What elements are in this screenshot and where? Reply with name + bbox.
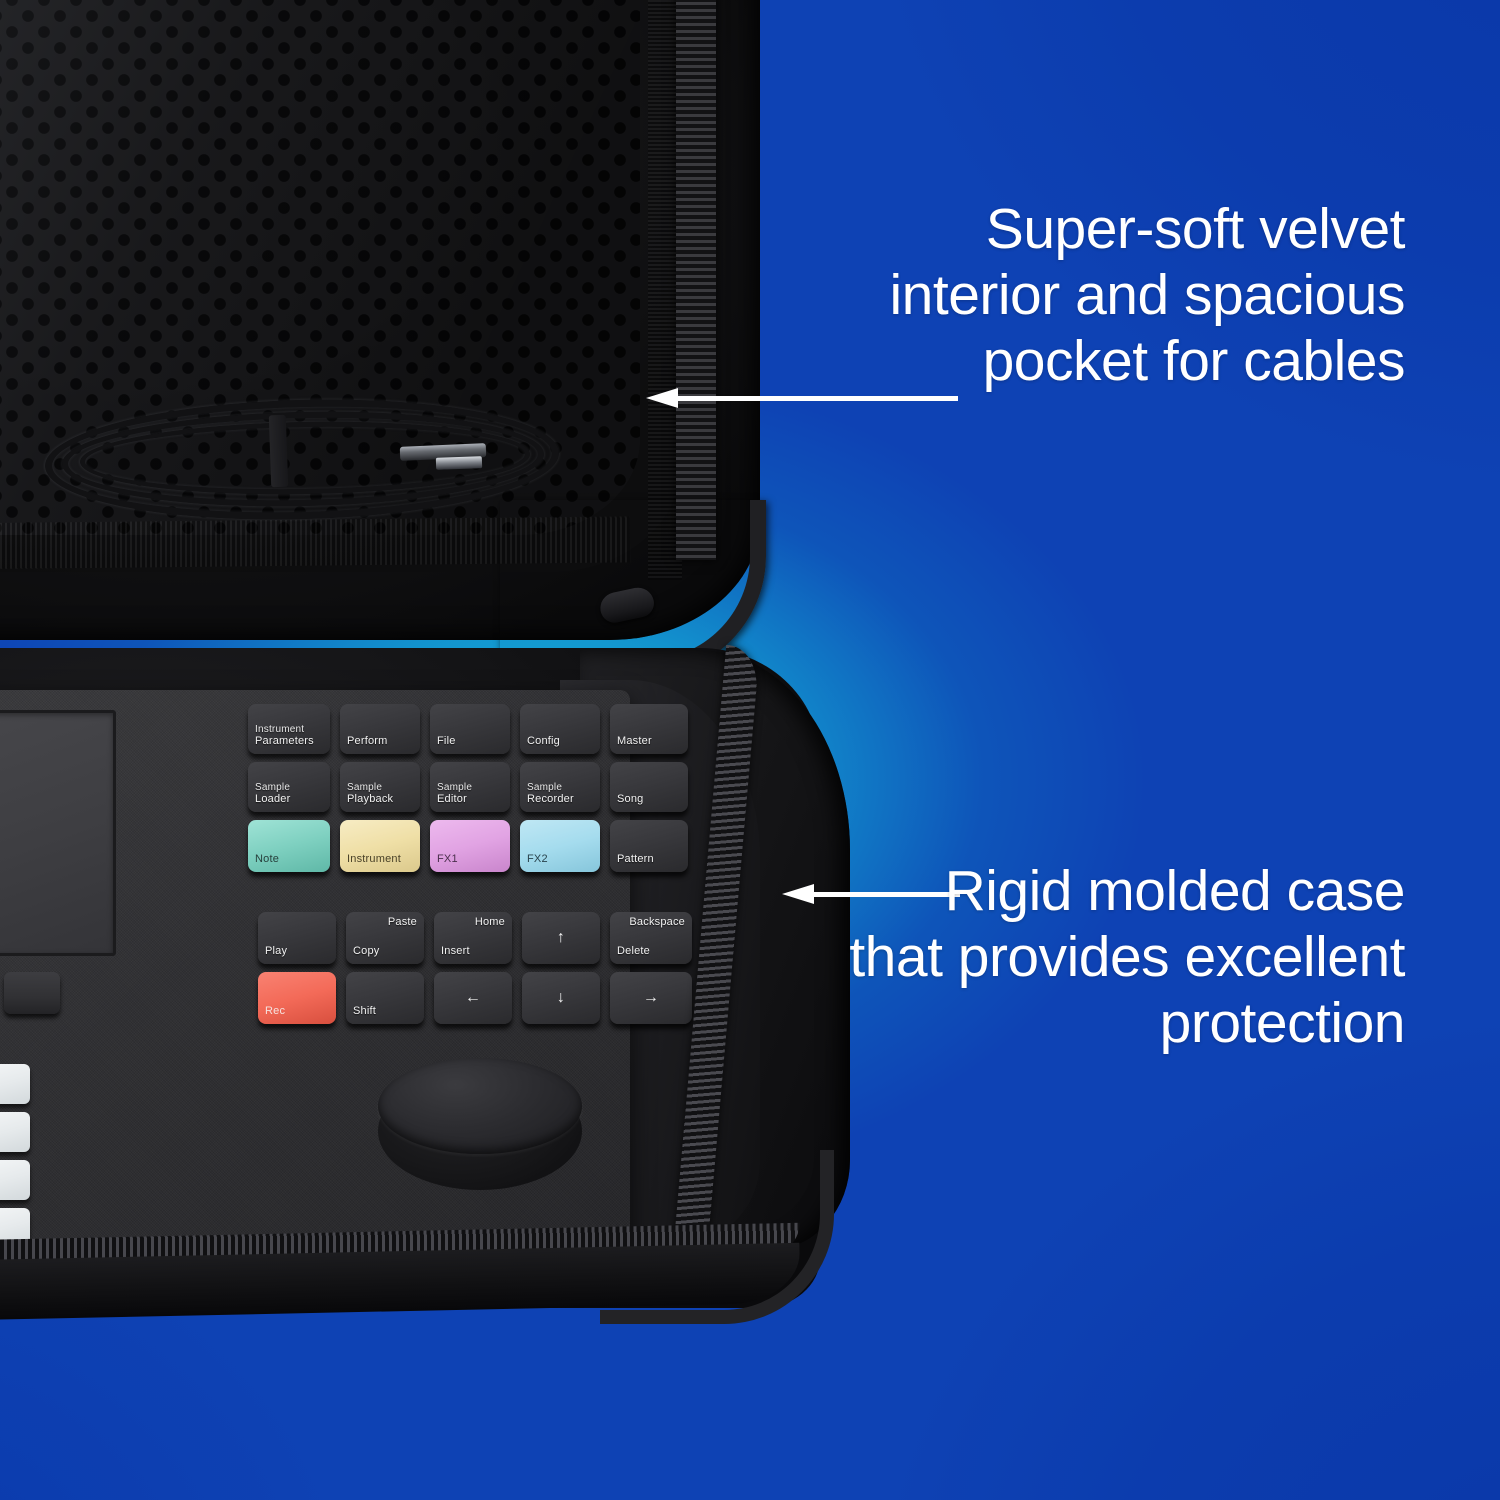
arrow-right-icon: → (610, 972, 692, 1024)
key-label-bottom: Copy (353, 946, 379, 958)
lid-zipper-teeth (676, 0, 716, 560)
key-label: Config (527, 736, 596, 748)
key-sample-editor[interactable]: SampleEditor (430, 762, 510, 812)
key-label: Play (265, 946, 332, 958)
arrow-left-icon: ← (434, 972, 512, 1024)
key-arrow-up[interactable]: ↑ (522, 912, 600, 964)
pad-fx2[interactable]: FX2 (520, 820, 600, 872)
velocity-pad[interactable] (0, 1064, 30, 1104)
key-label: File (437, 736, 506, 748)
pad-label: FX2 (527, 854, 596, 866)
key-label: SamplePlayback (347, 783, 416, 806)
pad-note[interactable]: Note (248, 820, 330, 872)
cable-velcro-strap (269, 415, 289, 488)
key-label: Shift (353, 1006, 420, 1018)
product-photo-scene: InstrumentParameters Perform File Config… (0, 0, 1500, 1500)
callout-text-velvet-interior: Super-soft velvet interior and spacious … (845, 196, 1405, 394)
groovebox-device: InstrumentParameters Perform File Config… (0, 690, 630, 1250)
arrow-up-icon: ↑ (522, 912, 600, 964)
key-label: SampleLoader (255, 783, 326, 806)
softkey-4[interactable] (4, 972, 60, 1014)
key-shift[interactable]: Shift (346, 972, 424, 1024)
key-label: Perform (347, 736, 416, 748)
pad-label: Pattern (617, 854, 684, 866)
device-display (0, 710, 116, 956)
key-copy-paste[interactable]: Paste Copy (346, 912, 424, 964)
callout-text-rigid-case: Rigid molded case that provides excellen… (845, 858, 1405, 1056)
pad-label: Note (255, 854, 326, 866)
pad-pattern[interactable]: Pattern (610, 820, 688, 872)
key-file[interactable]: File (430, 704, 510, 754)
key-arrow-left[interactable]: ← (434, 972, 512, 1024)
pad-label: Instrument (347, 854, 416, 866)
pad-instrument[interactable]: Instrument (340, 820, 420, 872)
key-instrument-parameters[interactable]: InstrumentParameters (248, 704, 330, 754)
key-sample-playback[interactable]: SamplePlayback (340, 762, 420, 812)
arrow-down-icon: ↓ (522, 972, 600, 1024)
arrow-shaft (674, 396, 958, 401)
key-label: Rec (265, 1006, 332, 1018)
key-label: Master (617, 736, 684, 748)
callout-arrow-1 (646, 394, 958, 402)
key-rec[interactable]: Rec (258, 972, 336, 1024)
key-sample-loader[interactable]: SampleLoader (248, 762, 330, 812)
key-config[interactable]: Config (520, 704, 600, 754)
key-home-insert[interactable]: Home Insert (434, 912, 512, 964)
key-backspace-delete[interactable]: Backspace Delete (610, 912, 692, 964)
key-label-bottom: Insert (441, 946, 470, 958)
key-master[interactable]: Master (610, 704, 688, 754)
key-play[interactable]: Play (258, 912, 336, 964)
velocity-pad[interactable] (0, 1160, 30, 1200)
key-label: SampleRecorder (527, 783, 596, 806)
key-perform[interactable]: Perform (340, 704, 420, 754)
velocity-pad[interactable] (0, 1112, 30, 1152)
key-label: Song (617, 794, 684, 806)
key-label: SampleEditor (437, 783, 506, 806)
key-label-bottom: Delete (617, 946, 650, 958)
key-song[interactable]: Song (610, 762, 688, 812)
key-sample-recorder[interactable]: SampleRecorder (520, 762, 600, 812)
pad-label: FX1 (437, 854, 506, 866)
key-arrow-down[interactable]: ↓ (522, 972, 600, 1024)
pad-fx1[interactable]: FX1 (430, 820, 510, 872)
key-label-top: Backspace (629, 917, 685, 929)
key-label-top: Home (475, 917, 505, 929)
encoder-knob[interactable] (378, 1058, 582, 1154)
key-label-top: Paste (388, 917, 417, 929)
cable-connector-tip (436, 456, 482, 470)
key-label: InstrumentParameters (255, 725, 326, 748)
key-arrow-right[interactable]: → (610, 972, 692, 1024)
